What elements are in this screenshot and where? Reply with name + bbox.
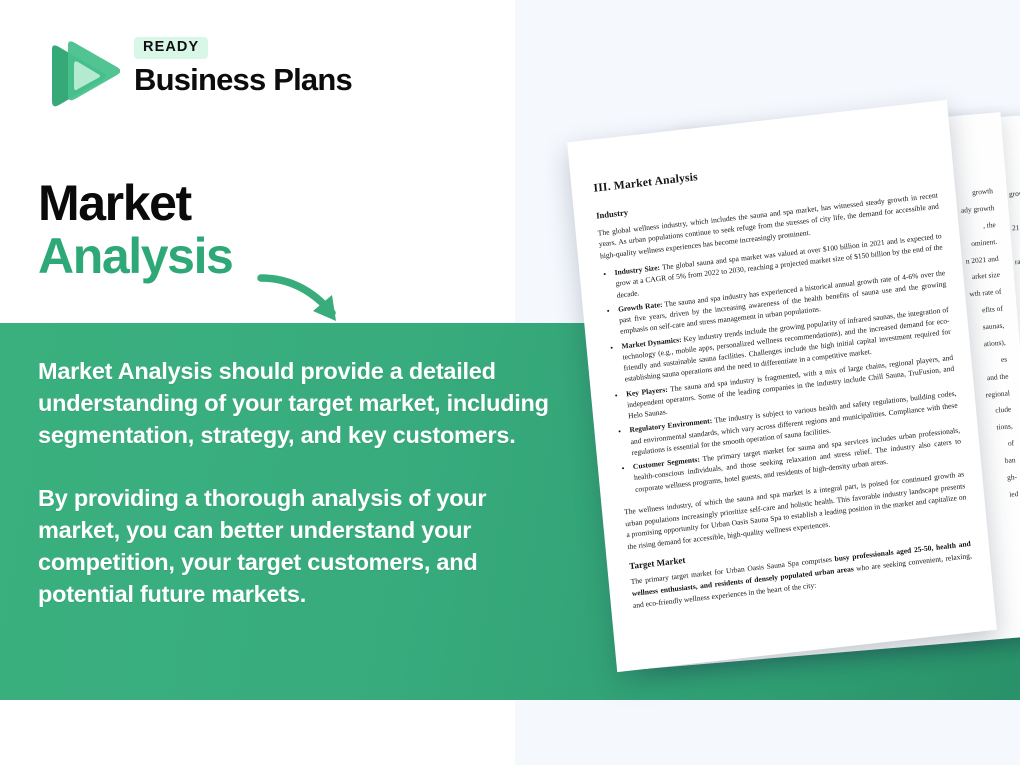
page-title: Market Analysis bbox=[38, 178, 232, 282]
title-line-1: Market bbox=[38, 178, 232, 229]
title-line-2: Analysis bbox=[38, 231, 232, 282]
document-bullet-list: Industry Size: The global sauna and spa … bbox=[601, 230, 962, 496]
description-block: Market Analysis should provide a detaile… bbox=[38, 355, 553, 610]
document-stack[interactable]: growthent.21 andsizerate ofs ofunas,ns),… bbox=[505, 80, 1020, 680]
brand-logo[interactable]: READY Business Plans bbox=[38, 33, 338, 118]
front-document-page[interactable]: III. Market Analysis Industry The global… bbox=[567, 100, 997, 672]
ready-badge: READY bbox=[134, 37, 208, 59]
description-paragraph-2: By providing a thorough analysis of your… bbox=[38, 482, 553, 611]
document-body: III. Market Analysis Industry The global… bbox=[593, 144, 973, 612]
slide-canvas: READY Business Plans Market Analysis Mar… bbox=[0, 0, 1020, 765]
play-triangle-logo-icon bbox=[38, 35, 120, 115]
brand-name: Business Plans bbox=[134, 63, 352, 97]
description-paragraph-1: Market Analysis should provide a detaile… bbox=[38, 355, 553, 452]
